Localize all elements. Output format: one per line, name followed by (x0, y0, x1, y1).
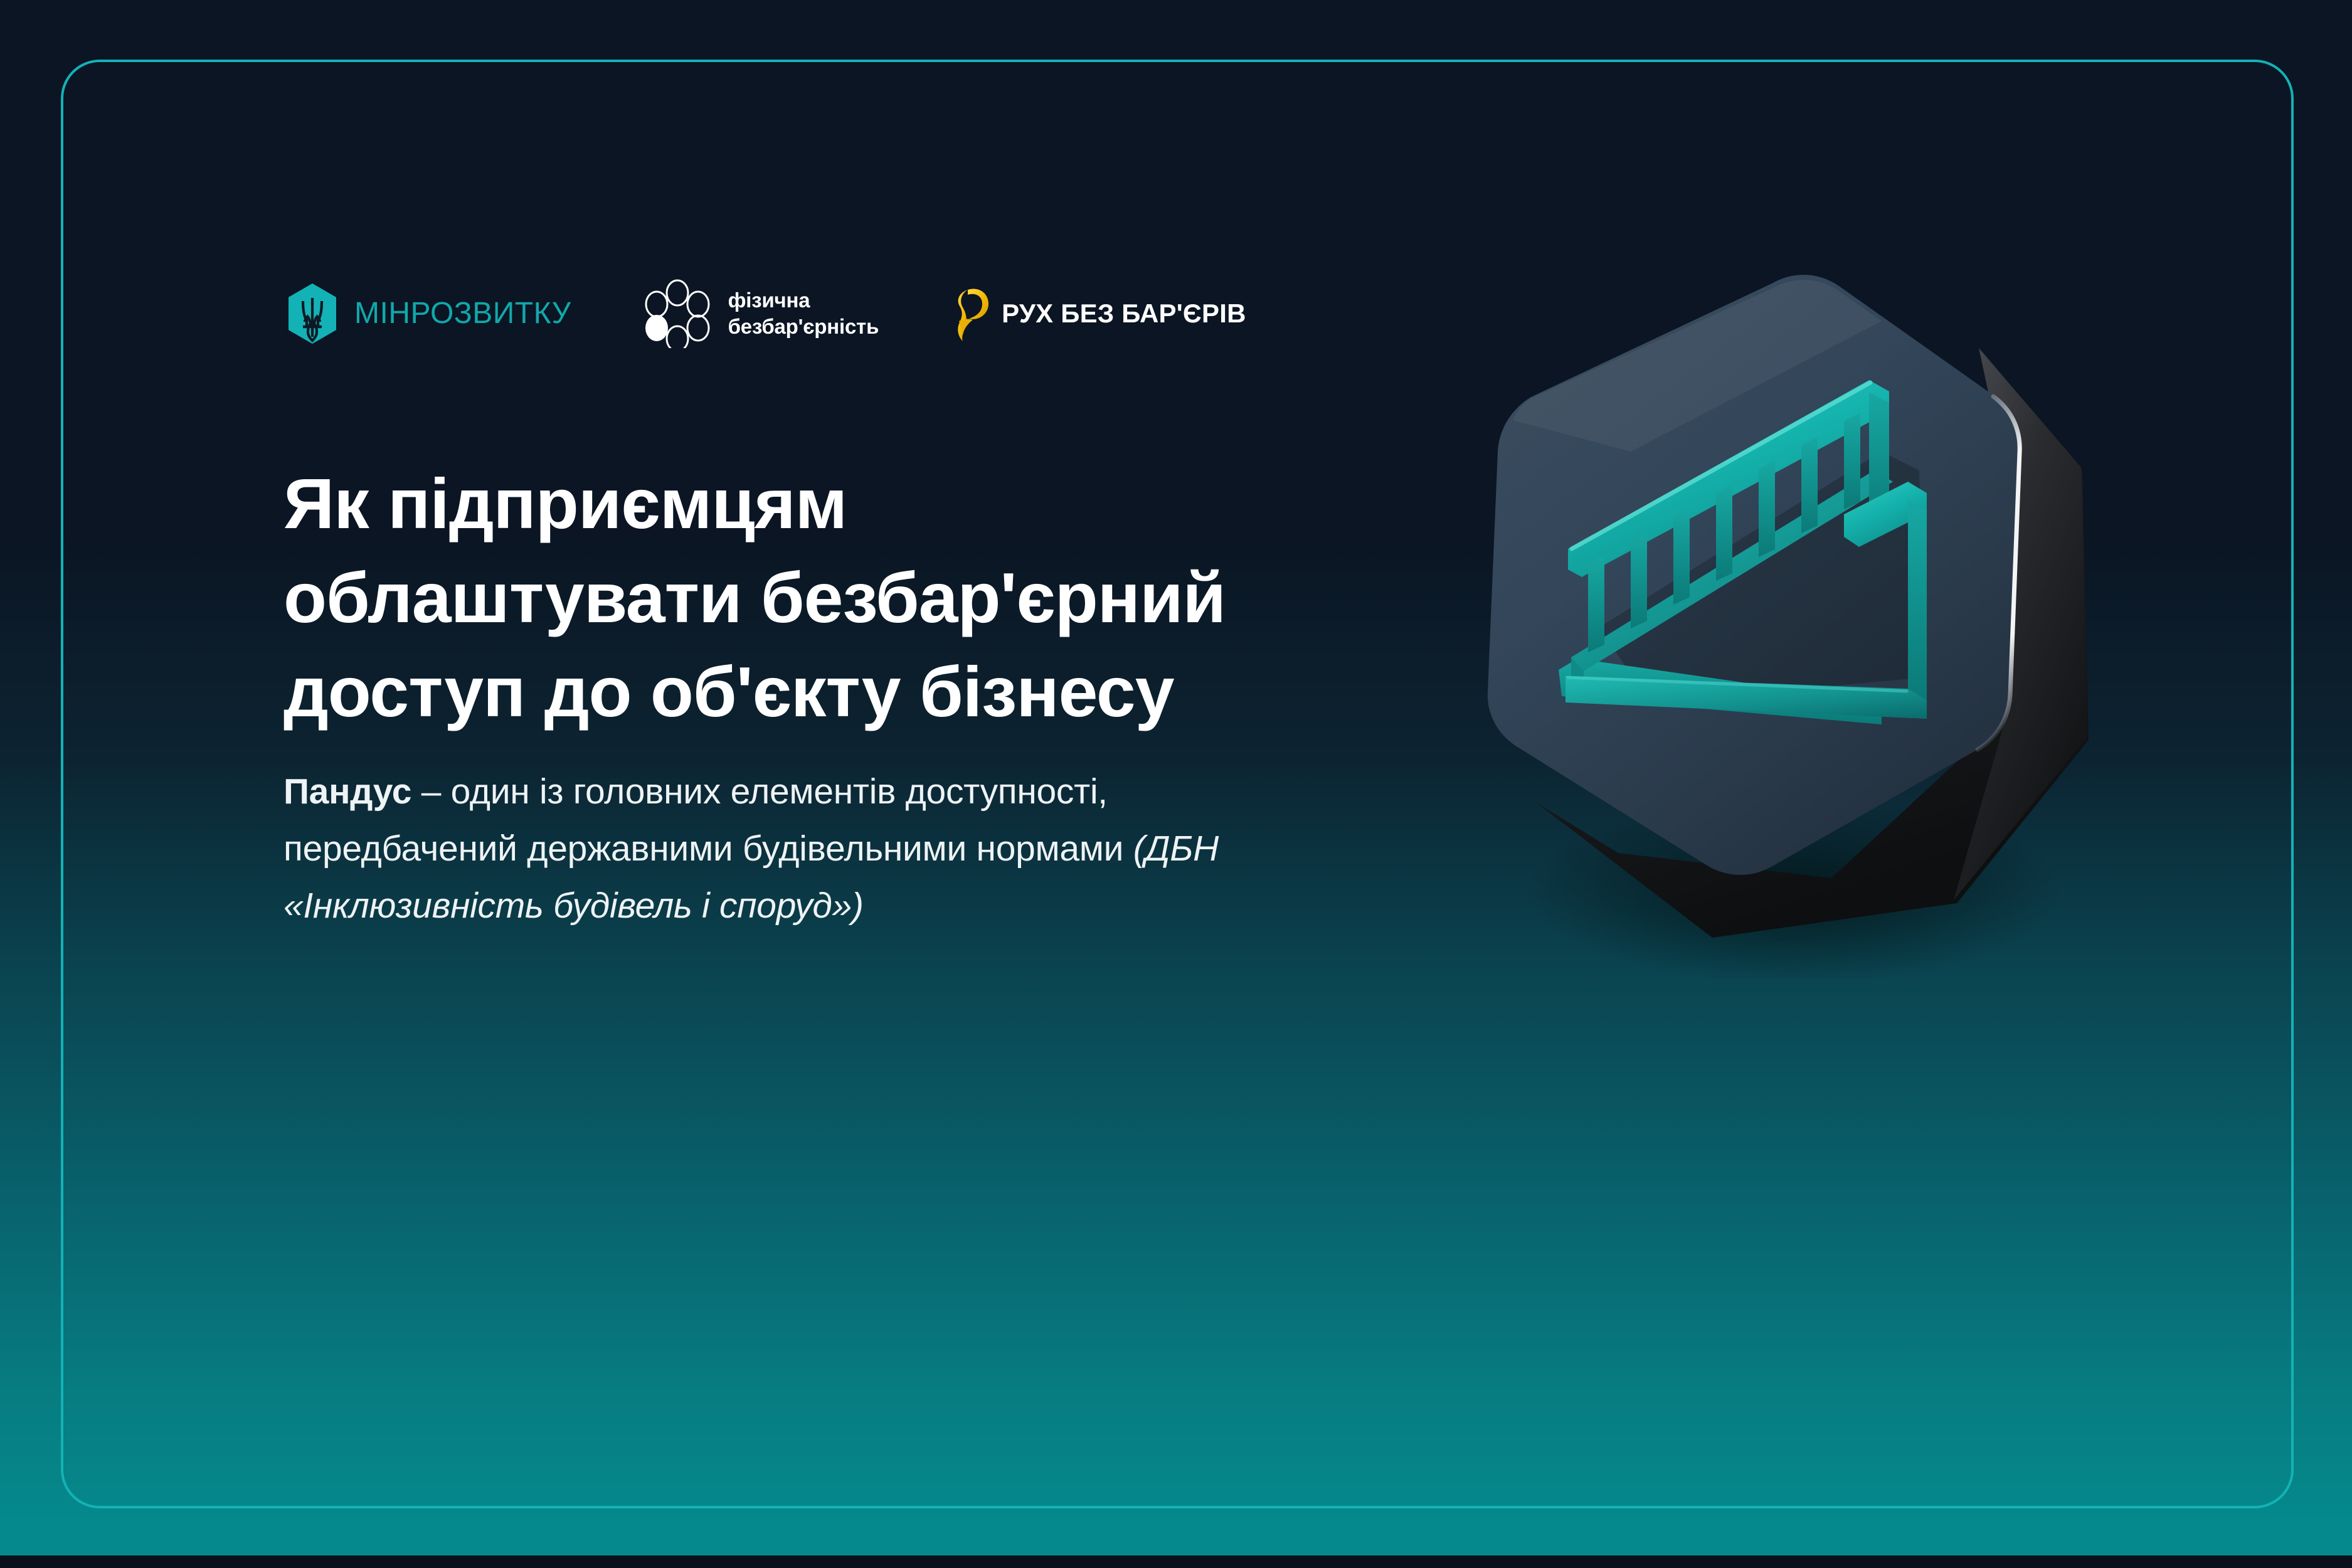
six-circles-flower-icon (640, 279, 714, 348)
yellow-ribbon-loop-icon (954, 285, 993, 342)
subtitle-lead: Пандус (283, 771, 411, 812)
slide-canvas: МІНРОЗВИТКУ фізична безбар'єрні (0, 0, 2352, 1568)
logo-minrozvytku[interactable]: МІНРОЗВИТКУ (285, 283, 571, 344)
subtitle: Пандус – один із головних елементів дост… (283, 763, 1350, 935)
ukraine-trident-hexagon-icon (285, 283, 339, 344)
logo-bezbariernist-line2: безбар'єрність (728, 315, 879, 338)
page-title: Як підприємцям облаштувати безбар'єрний … (283, 457, 1387, 739)
logo-rukh-bez-baririv[interactable]: РУХ БЕЗ БАР'ЄРІВ (954, 285, 1246, 342)
logo-row: МІНРОЗВИТКУ фізична безбар'єрні (285, 270, 1246, 358)
logo-minrozvytku-label: МІНРОЗВИТКУ (354, 299, 571, 329)
ramp-badge-illustration (1443, 263, 2145, 978)
logo-bezbariernist-line1: фізична (728, 289, 810, 312)
logo-bezbariernist-label: фізична безбар'єрність (728, 287, 879, 340)
ramp-landing-upright (1908, 499, 1927, 700)
subtitle-body: – один із головних елементів доступності… (283, 771, 1133, 869)
logo-fizychna-bezbariernist[interactable]: фізична безбар'єрність (640, 279, 879, 348)
headline-line-3: доступ до об'єкту бізнесу (283, 645, 1387, 739)
logo-rukh-label: РУХ БЕЗ БАР'ЄРІВ (1002, 300, 1246, 327)
headline-line-2: облаштувати безбар'єрний (283, 551, 1387, 645)
headline-line-1: Як підприємцям (283, 457, 1387, 551)
